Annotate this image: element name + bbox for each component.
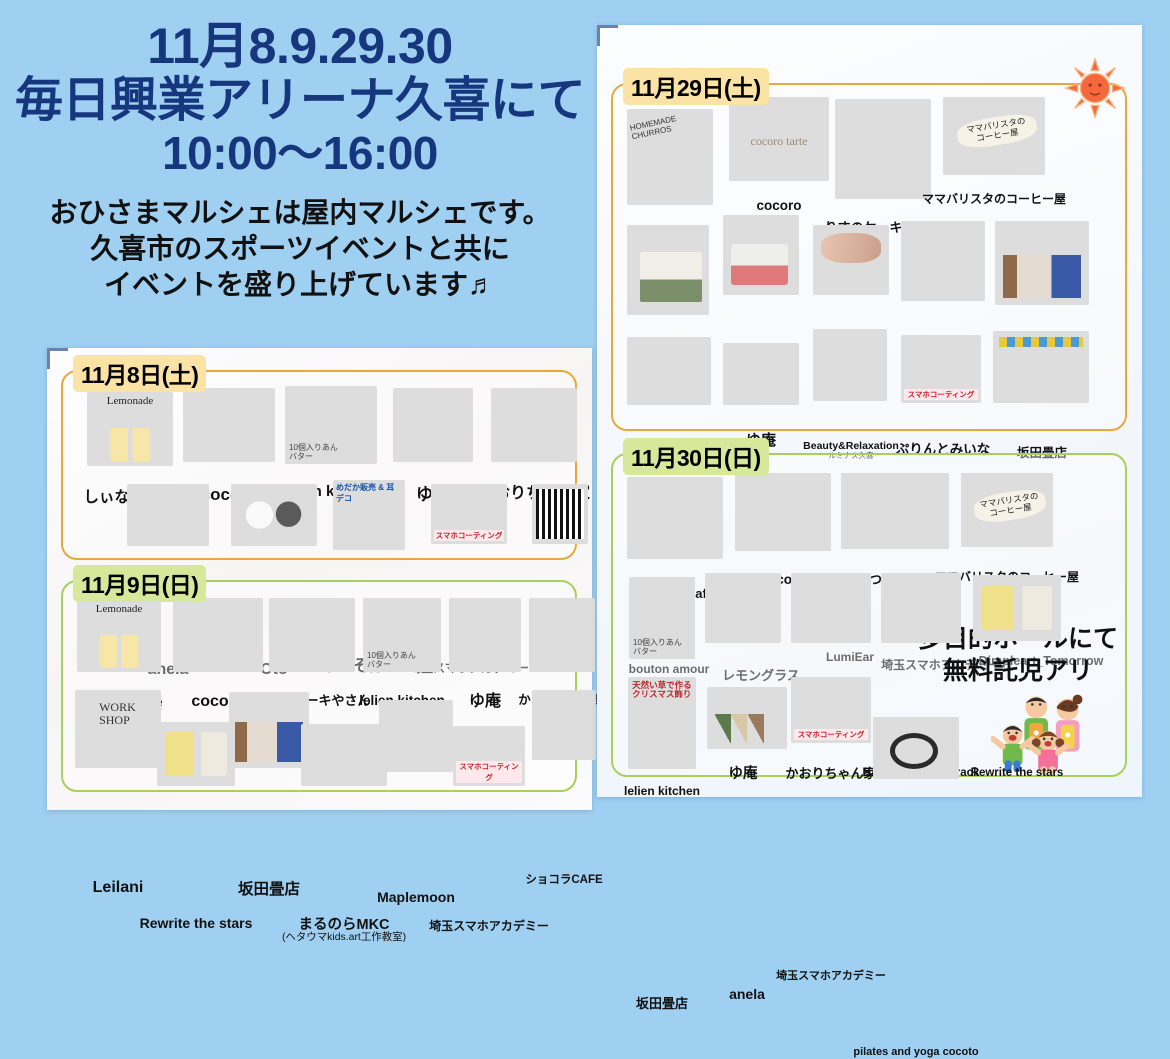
vendor-name: ゆ庵 xyxy=(469,694,501,711)
vendor-name: cocoro xyxy=(756,199,801,213)
vendor-photo xyxy=(431,484,507,544)
vendor-photo xyxy=(873,717,959,779)
vendor-photo xyxy=(532,690,596,760)
vendor-photo xyxy=(393,388,473,462)
vendor-tile: しぃなのcafé xyxy=(627,109,713,205)
vendor-tile: 坂田畳店 xyxy=(995,221,1089,305)
vendor-tile: こうまつやもっちり庵 xyxy=(841,473,949,549)
vendor-photo xyxy=(75,690,161,768)
vendor-tile: りすのケーキやさん xyxy=(835,99,931,199)
vendor-tile: lelien kitchen xyxy=(627,225,709,315)
vendor-tile: かおりちゃん家 xyxy=(491,388,577,462)
vendor-tile: ショコラCAFE xyxy=(529,690,599,760)
description-line-3: イベントを盛り上げています♬ xyxy=(0,267,600,303)
vendor-photo xyxy=(285,386,377,464)
vendor-photo xyxy=(723,343,799,405)
right-panel: 11月29日(土) しぃなのcafécocoroりすのケーキやさんママバリスタの… xyxy=(597,25,1142,797)
vendor-tile: ゆ庵 xyxy=(723,215,799,295)
vendor-tile: ゆ庵 xyxy=(393,388,473,462)
vendor-photo xyxy=(127,484,209,546)
vendor-photo xyxy=(729,97,829,181)
vendor-photo xyxy=(993,331,1089,403)
vendor-photo xyxy=(231,484,317,546)
vendor-name: 埼玉スマホアカデミー xyxy=(429,920,549,933)
vendor-tile: cocoro xyxy=(729,97,829,181)
vendor-photo xyxy=(835,99,931,199)
vendor-tile xyxy=(525,484,595,544)
vendor-tile: 埼玉スマホアカデミー xyxy=(453,726,525,786)
family-illustration xyxy=(991,683,1109,775)
vendor-tile: 埼玉スマホアカデミー xyxy=(431,484,507,544)
day-label-nov29: 11月29日(土) xyxy=(623,68,769,105)
vendor-photo xyxy=(881,573,961,643)
day-label-nov9: 11月9日(日) xyxy=(73,565,206,602)
vendor-photo xyxy=(269,598,355,672)
vendor-photo xyxy=(183,388,275,462)
vendor-photo xyxy=(841,473,949,549)
vendor-tile: Beauty&Relaxationルミナス久喜 xyxy=(813,225,889,295)
vendor-photo xyxy=(87,392,173,466)
event-description: おひさまマルシェは屋内マルシェです。 久喜市のスポーツイベントと共に イベントを… xyxy=(0,195,600,302)
vendor-tile: Maplemoon xyxy=(379,700,453,772)
left-panel: 11月8日(土) しぃなのcafécocorolelien kitchenゆ庵か… xyxy=(47,348,592,810)
vendor-tile: 坂田畳店 xyxy=(627,677,697,769)
vendor-tile: anela xyxy=(707,687,787,749)
event-dates: 11月8.9.29.30 xyxy=(0,18,600,74)
vendor-tile: BAN SUN Food Track xyxy=(881,573,961,643)
vendor-photo xyxy=(229,692,309,768)
vendor-tile: しぃなのcafé xyxy=(87,392,173,466)
vendor-photo xyxy=(961,473,1053,547)
vendor-photo xyxy=(707,687,787,749)
vendor-name: Rewrite the stars xyxy=(140,916,253,931)
vendor-tile: まるのらMKC(ヘタウマkids.art工作教室) xyxy=(301,724,387,786)
vendor-photo xyxy=(301,724,387,786)
vendor-photo xyxy=(379,700,453,772)
day-label-nov8: 11月8日(土) xyxy=(73,355,206,392)
vendor-tile: lelien kitchen xyxy=(363,598,441,672)
vendor-name: 坂田畳店 xyxy=(636,997,688,1011)
vendor-name: lelien kitchen xyxy=(624,785,700,798)
vendor-tile: Leilani xyxy=(75,690,161,768)
vendor-tile: anela xyxy=(127,484,209,546)
vendor-tile: レモングラス xyxy=(723,343,799,405)
vendor-photo xyxy=(532,484,588,544)
vendor-photo xyxy=(627,337,711,405)
vendor-name: 坂田畳店 xyxy=(238,882,300,898)
description-line-2: 久喜市のスポーツイベントと共に xyxy=(0,231,600,267)
vendor-tile: ママバリスタのコーヒー屋 xyxy=(943,97,1045,175)
vendor-tile: 埼玉スマホアカデミー xyxy=(901,335,981,403)
vendor-photo xyxy=(629,577,695,659)
vendor-photo xyxy=(529,598,595,672)
vendor-name: 埼玉スマホアカデミー xyxy=(776,971,886,983)
vendor-tile: Rewrite the stars xyxy=(157,722,235,786)
vendor-photo xyxy=(791,573,871,643)
vendor-tile: Oto xyxy=(231,484,317,546)
vendor-photo xyxy=(453,726,525,786)
vendor-photo xyxy=(333,480,405,550)
vendor-tile: 埼玉スマホアカデミー xyxy=(791,677,871,743)
vendor-photo xyxy=(735,473,831,551)
day-card-nov8: 11月8日(土) しぃなのcafécocorolelien kitchenゆ庵か… xyxy=(61,370,577,560)
vendor-photo xyxy=(77,600,161,672)
vendor-tile: しぃなのcafé xyxy=(77,600,161,672)
vendor-name: Leilani xyxy=(93,880,144,897)
vendor-tile: cocoro xyxy=(183,388,275,462)
vendor-photo xyxy=(491,388,577,462)
vendor-photo xyxy=(813,329,887,401)
vendor-photo xyxy=(723,215,799,295)
day-card-nov30: 11月30日(日) 多目的ホールにて 無料託児アリ xyxy=(611,453,1127,777)
vendor-tile: Dimpleart_Tomorrow xyxy=(993,331,1089,403)
vendor-tile: ゆ庵 xyxy=(705,573,781,643)
vendor-name: ゆ庵 xyxy=(729,767,758,782)
vendor-photo xyxy=(449,598,521,672)
vendor-name: まるのらMKC(ヘタウマkids.art工作教室) xyxy=(282,918,406,944)
vendor-photo xyxy=(363,598,441,672)
event-hours: 10:00〜16:00 xyxy=(0,128,600,180)
vendor-tile: Rewrite the stars xyxy=(973,575,1061,641)
event-venue: 毎日興業アリーナ久喜にて xyxy=(0,74,600,128)
vendor-tile: cocoro xyxy=(173,598,263,672)
vendor-tile: かおりちゃん家 xyxy=(791,573,871,643)
vendor-tile: bouton amour xyxy=(627,337,711,405)
poster-header: 11月8.9.29.30 毎日興業アリーナ久喜にて 10:00〜16:00 おひ… xyxy=(0,18,600,303)
vendor-name: anela xyxy=(729,987,765,1002)
vendor-photo xyxy=(627,477,723,559)
vendor-tile: かおりちゃん家 xyxy=(527,598,597,672)
vendor-photo xyxy=(943,97,1045,175)
vendor-photo xyxy=(627,109,713,205)
vendor-tile: あーそぼっ！ xyxy=(333,480,405,550)
vendor-photo xyxy=(995,221,1089,305)
vendor-photo xyxy=(901,335,981,403)
vendor-subname: (ヘタウマkids.art工作教室) xyxy=(282,933,406,944)
vendor-photo xyxy=(705,573,781,643)
vendor-name: ママバリスタのコーヒー屋 xyxy=(922,193,1066,206)
vendor-tile: LumiEar xyxy=(813,329,887,401)
day-card-nov29: 11月29日(土) しぃなのcafécocoroりすのケーキやさんママバリスタの… xyxy=(611,83,1127,431)
vendor-tile: しぃなのcafé xyxy=(627,477,723,559)
vendor-tile: りすのケーキやさん xyxy=(269,598,355,672)
day-label-nov30: 11月30日(日) xyxy=(623,438,769,475)
vendor-photo xyxy=(973,575,1061,641)
vendor-tile: ママバリスタのコーヒー屋 xyxy=(961,473,1053,547)
vendor-photo xyxy=(173,598,263,672)
vendor-tile: ぷりんとみいな xyxy=(901,221,985,301)
vendor-photo xyxy=(901,221,985,301)
vendor-tile: lelien kitchen xyxy=(285,386,377,464)
vendor-photo xyxy=(627,225,709,315)
vendor-name: ショコラCAFE xyxy=(525,874,602,886)
vendor-photo xyxy=(813,225,889,295)
description-line-1: おひさまマルシェは屋内マルシェです。 xyxy=(0,195,600,231)
vendor-name: pilates and yoga cocoto xyxy=(853,1047,978,1059)
day-card-nov9: 11月9日(日) しぃなのcafécocoroりすのケーキやさんlelien k… xyxy=(61,580,577,792)
vendor-photo xyxy=(628,677,696,769)
sun-icon xyxy=(1064,57,1126,119)
vendor-tile: pilates and yoga cocoto xyxy=(873,717,959,779)
vendor-photo xyxy=(157,722,235,786)
vendor-tile: cocoro xyxy=(735,473,831,551)
vendor-tile: lelien kitchen xyxy=(627,577,697,659)
vendor-tile: ゆ庵 xyxy=(449,598,521,672)
vendor-photo xyxy=(791,677,871,743)
vendor-name: Maplemoon xyxy=(377,890,455,905)
vendor-tile: 坂田畳店 xyxy=(229,692,309,768)
vendor-name: Rewrite the stars xyxy=(971,767,1064,779)
